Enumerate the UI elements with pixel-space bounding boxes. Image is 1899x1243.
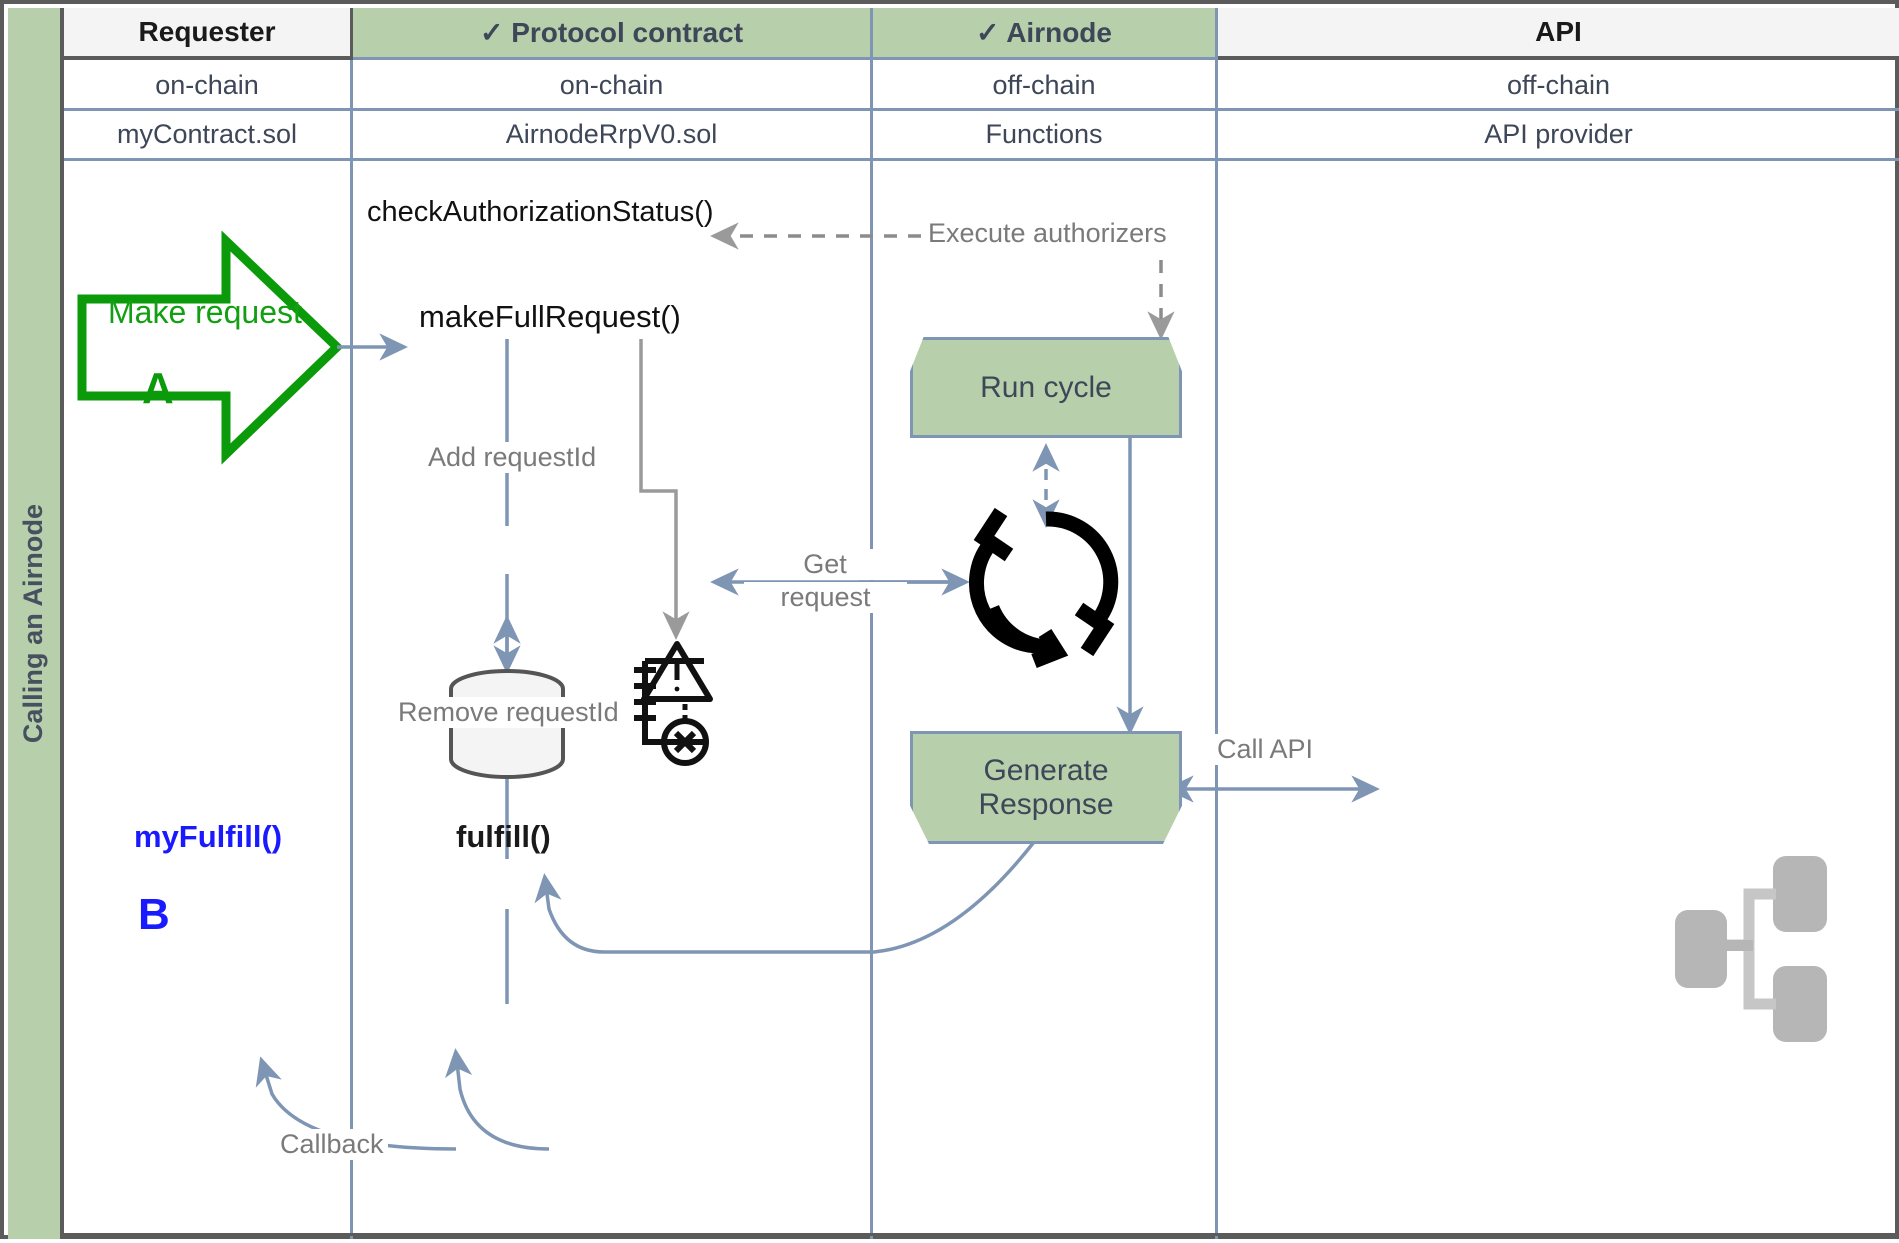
generate-response-label-line2: Response: [978, 788, 1113, 822]
column-artifact-protocol-contract: AirnodeRrpV0.sol: [353, 111, 870, 158]
generate-response-node: Generate Response: [910, 731, 1182, 844]
remove-request-id-label: Remove requestId: [394, 697, 623, 728]
diagram-canvas: Calling an Airnode Requester ✓ Protocol …: [0, 0, 1899, 1239]
get-request-label-line2: request: [744, 582, 907, 613]
row-divider-2: [64, 158, 1899, 161]
row-divider-bottom: [64, 1233, 1899, 1236]
add-request-id-label: Add requestId: [424, 442, 600, 473]
column-divider-2: [870, 8, 873, 1239]
my-fulfill-label: myFulfill(): [134, 819, 282, 855]
swimlane-grid: Requester ✓ Protocol contract ✓ Airnode …: [64, 8, 1899, 1239]
generate-response-label-line1: Generate: [983, 754, 1108, 788]
column-chain-api: off-chain: [1218, 63, 1899, 108]
check-authorization-status-label: checkAuthorizationStatus(): [367, 196, 714, 229]
column-chain-airnode: off-chain: [873, 63, 1215, 108]
fulfill-label: fulfill(): [456, 819, 551, 855]
section-band-label: Calling an Airnode: [19, 504, 50, 743]
call-api-label: Call API: [1213, 734, 1317, 765]
section-band-calling-an-airnode: Calling an Airnode: [8, 8, 64, 1239]
marker-a: A: [142, 364, 174, 414]
column-artifact-airnode: Functions: [873, 111, 1215, 158]
make-request-label: Make request: [108, 294, 302, 331]
run-cycle-node: Run cycle: [910, 337, 1182, 438]
get-request-label-line1: Get: [766, 549, 884, 580]
column-artifact-api: API provider: [1218, 111, 1899, 158]
column-header-airnode: ✓ Airnode: [873, 8, 1215, 60]
column-chain-requester: on-chain: [64, 63, 350, 108]
run-cycle-label: Run cycle: [980, 371, 1112, 405]
callback-label: Callback: [276, 1129, 388, 1160]
column-artifact-requester: myContract.sol: [64, 111, 350, 158]
column-header-requester: Requester: [64, 8, 350, 60]
execute-authorizers-label: Execute authorizers: [924, 218, 1171, 249]
column-divider-1: [350, 60, 353, 1239]
column-divider-3: [1215, 8, 1218, 1239]
make-full-request-label: makeFullRequest(): [419, 299, 681, 335]
column-chain-protocol-contract: on-chain: [353, 63, 870, 108]
column-header-protocol-contract: ✓ Protocol contract: [353, 8, 870, 60]
column-header-api: API: [1218, 8, 1899, 60]
marker-b: B: [138, 890, 170, 940]
